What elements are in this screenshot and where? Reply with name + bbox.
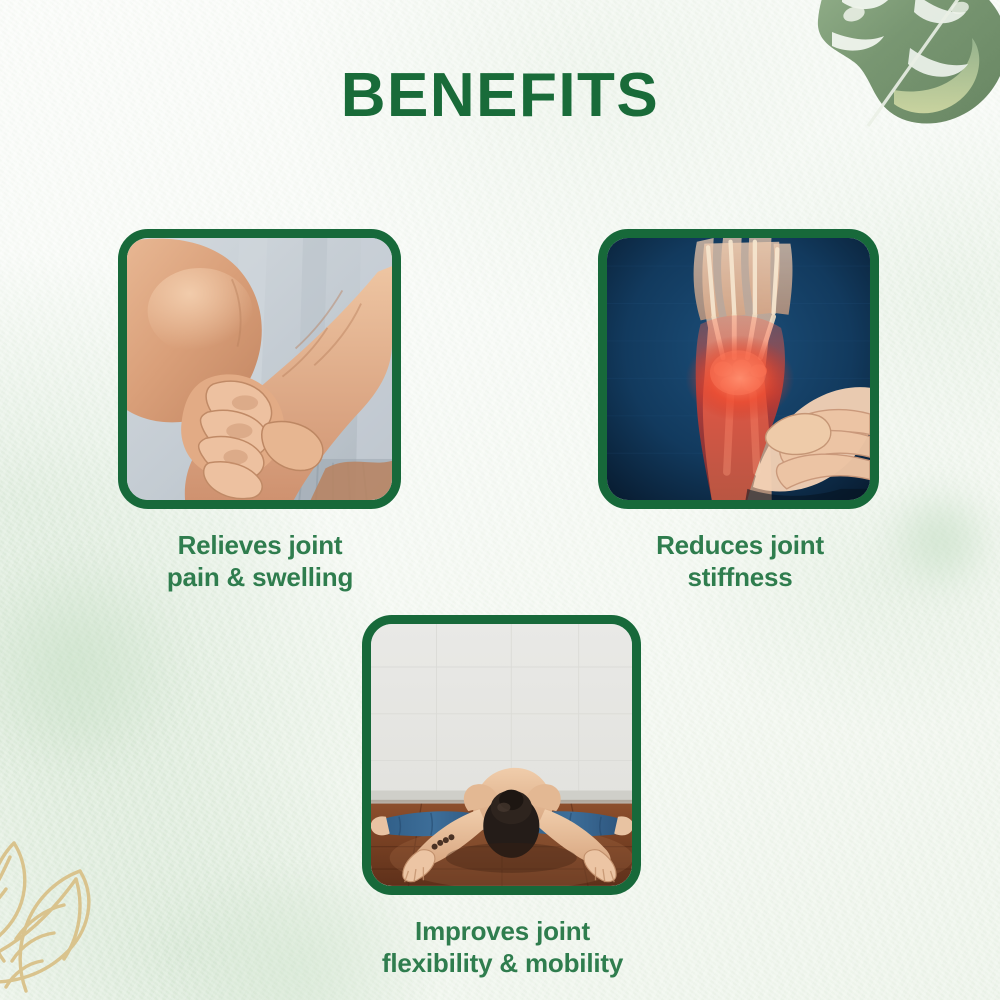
page-title: BENEFITS [0,60,1000,131]
caption-line-1: Improves joint [340,916,665,948]
xray-wrist-inflammation-photo [607,238,870,500]
caption-line-2: pain & swelling [100,562,420,594]
benefit-card-reduces-joint-stiffness[interactable] [598,229,879,509]
woman-yoga-forward-fold-photo [371,624,632,886]
benefit-card-improves-joint-flexibility[interactable] [362,615,641,895]
outline-leaf-icon [0,835,169,1000]
caption-line-1: Relieves joint [100,530,420,562]
benefit-caption-relieves-joint-pain: Relieves joint pain & swelling [100,530,420,593]
man-holding-painful-elbow-photo [127,238,392,500]
benefit-caption-reduces-joint-stiffness: Reduces joint stiffness [580,530,900,593]
benefit-caption-improves-joint-flexibility: Improves joint flexibility & mobility [340,916,665,979]
benefits-poster: BENEFITS [0,0,1000,1000]
caption-line-1: Reduces joint [580,530,900,562]
benefit-card-relieves-joint-pain[interactable] [118,229,401,509]
caption-line-2: flexibility & mobility [340,948,665,980]
caption-line-2: stiffness [580,562,900,594]
